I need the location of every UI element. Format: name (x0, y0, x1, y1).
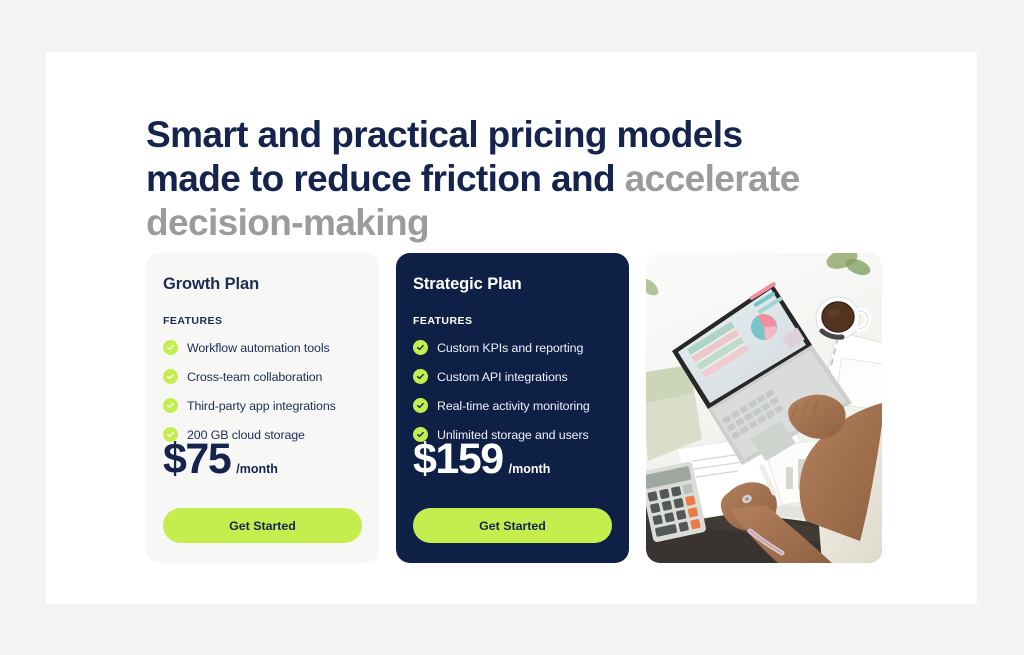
headline-line-1: Smart and practical pricing models (146, 114, 742, 155)
pricing-card-growth[interactable]: Growth Plan FEATURES Workflow automation… (146, 253, 379, 563)
list-item: Custom API integrations (413, 369, 612, 384)
plan-title: Strategic Plan (413, 275, 612, 294)
price-period: /month (236, 462, 278, 476)
price-amount: $75 (163, 438, 230, 481)
headline-line-3-muted: decision-making (146, 202, 429, 243)
feature-text: Custom API integrations (437, 370, 568, 384)
get-started-button[interactable]: Get Started (163, 508, 362, 543)
list-item: Workflow automation tools (163, 340, 362, 355)
list-item: Real-time activity monitoring (413, 398, 612, 413)
check-icon (163, 369, 178, 384)
feature-list: Workflow automation tools Cross-team col… (163, 340, 362, 442)
price-row: $75 /month (163, 438, 278, 481)
check-icon (163, 340, 178, 355)
check-icon (413, 398, 428, 413)
check-icon (413, 340, 428, 355)
content-panel: Smart and practical pricing models made … (46, 52, 977, 604)
list-item: Third-party app integrations (163, 398, 362, 413)
price-period: /month (509, 462, 551, 476)
features-label: FEATURES (413, 315, 612, 327)
plan-title: Growth Plan (163, 275, 362, 294)
list-item: Cross-team collaboration (163, 369, 362, 384)
feature-text: Real-time activity monitoring (437, 399, 590, 413)
feature-text: Custom KPIs and reporting (437, 341, 583, 355)
page-headline: Smart and practical pricing models made … (146, 113, 926, 245)
list-item: Custom KPIs and reporting (413, 340, 612, 355)
features-label: FEATURES (163, 315, 362, 327)
check-icon (163, 398, 178, 413)
price-amount: $159 (413, 438, 503, 481)
workspace-photo (646, 253, 882, 563)
workspace-photo-illustration (646, 253, 882, 563)
headline-line-2-muted: accelerate (625, 158, 800, 199)
price-row: $159 /month (413, 438, 550, 481)
pricing-card-strategic[interactable]: Strategic Plan FEATURES Custom KPIs and … (396, 253, 629, 563)
headline-line-2-strong: made to reduce friction and (146, 158, 625, 199)
pricing-cards-row: Growth Plan FEATURES Workflow automation… (146, 253, 882, 563)
feature-list: Custom KPIs and reporting Custom API int… (413, 340, 612, 442)
check-icon (413, 369, 428, 384)
get-started-button[interactable]: Get Started (413, 508, 612, 543)
feature-text: Workflow automation tools (187, 341, 330, 355)
feature-text: Cross-team collaboration (187, 370, 322, 384)
feature-text: Third-party app integrations (187, 399, 336, 413)
